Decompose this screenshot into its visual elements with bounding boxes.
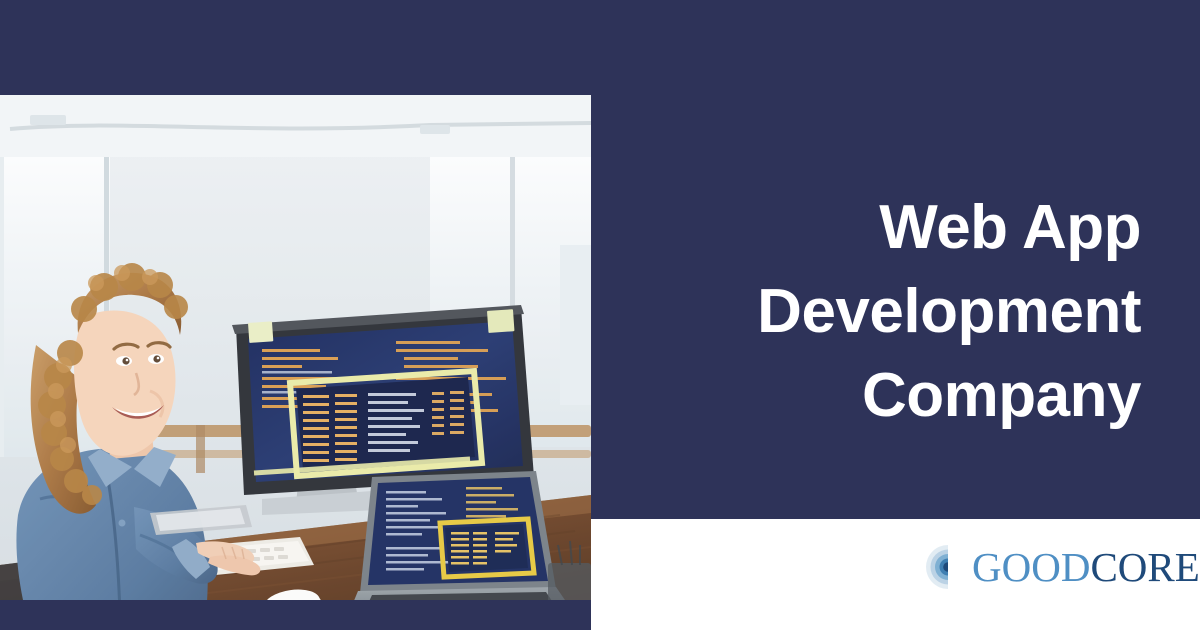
photo-illustration [0,95,591,600]
page-title: Web App Development Company [620,186,1141,438]
logo-word-good: GOOD [972,544,1090,590]
goodcore-target-icon [925,544,971,590]
headline-line-1: Web App [620,186,1141,270]
hero-photo [0,95,591,600]
headline-line-2: Development [620,270,1141,354]
banner: Web App Development Company GOODCORE [0,0,1200,630]
headline-line-3: Company [620,354,1141,438]
logo-word-core: CORE [1090,544,1199,590]
logo-wordmark: GOODCORE [972,547,1200,588]
goodcore-logo[interactable]: GOODCORE [925,543,1200,591]
